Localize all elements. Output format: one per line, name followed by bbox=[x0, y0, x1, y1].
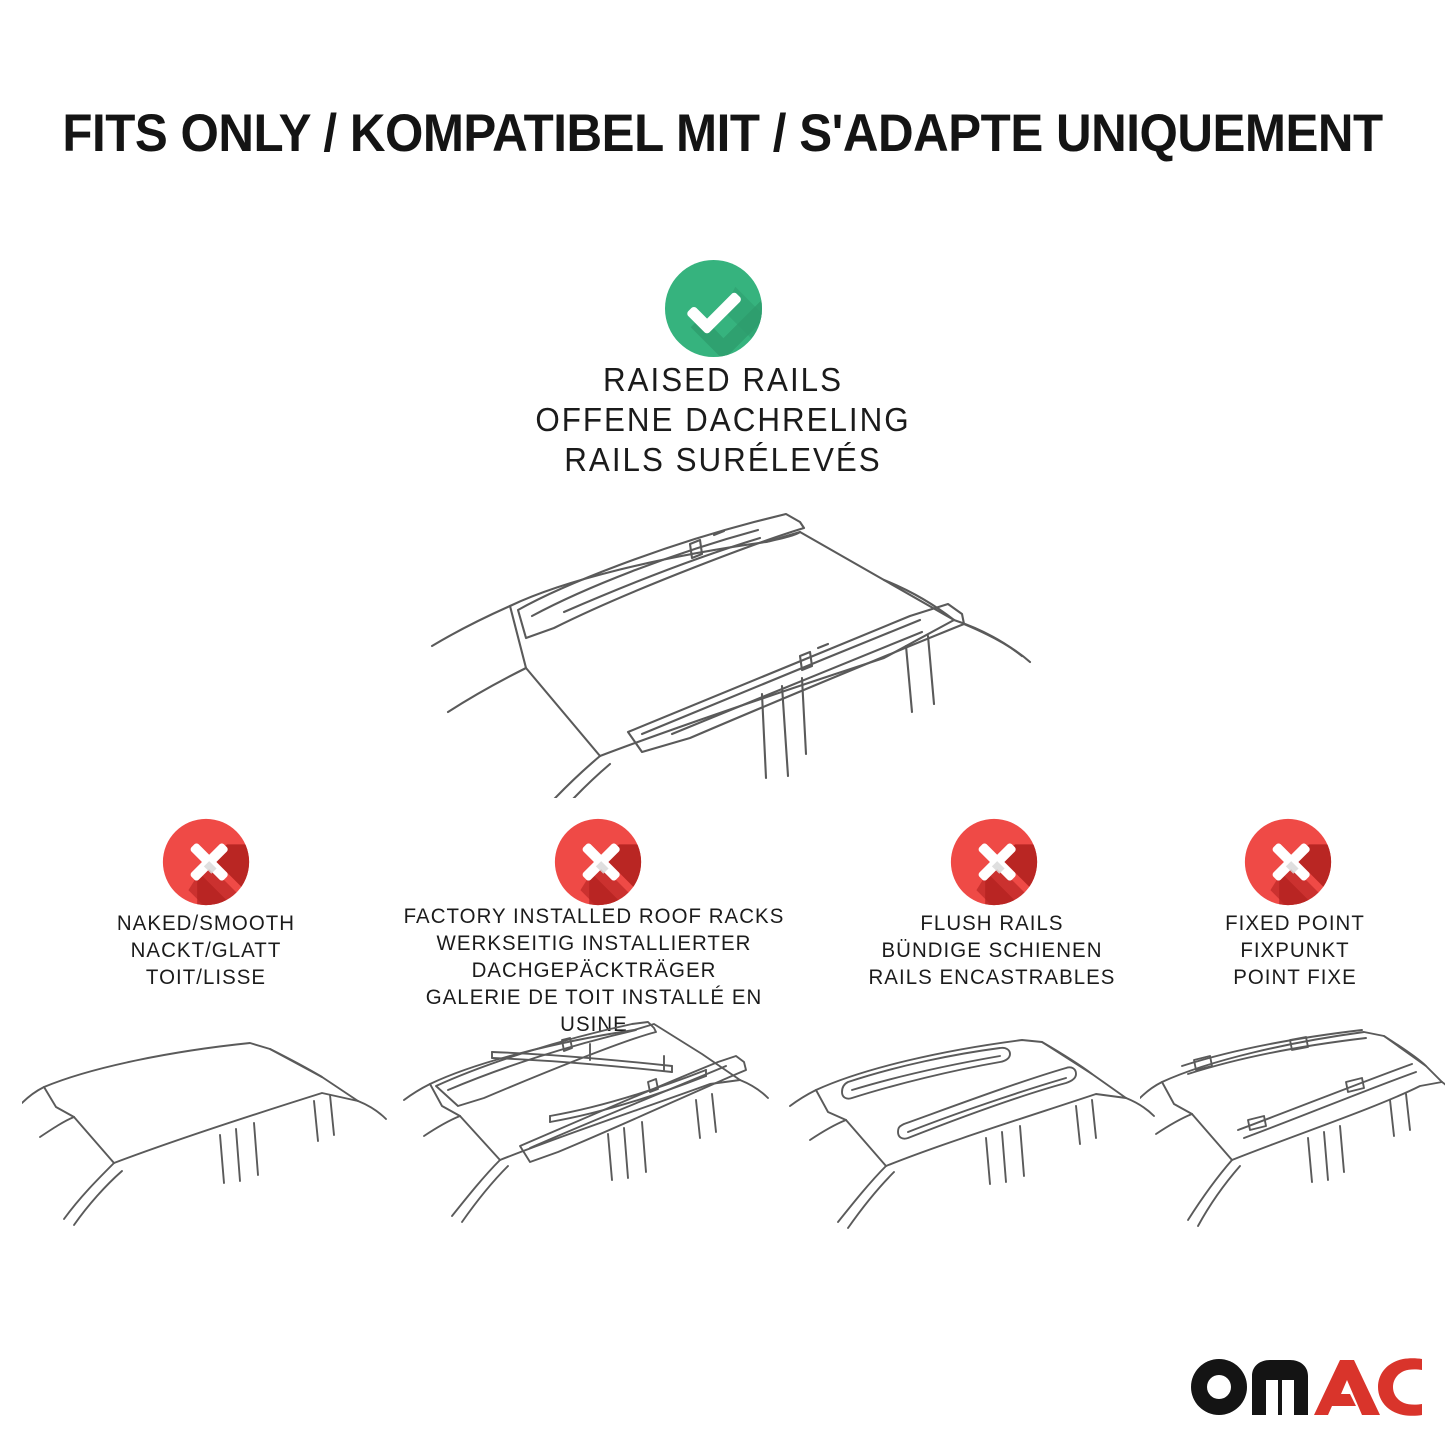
cross-circle-icon bbox=[1244, 818, 1332, 906]
option-label-line-1: FIXED POINT bbox=[1155, 910, 1434, 937]
option-label-line-2: NACKT/GLATT bbox=[26, 937, 387, 964]
option-label-line-3: POINT FIXE bbox=[1155, 964, 1434, 991]
compatible-label-line-2: OFFENE DACHRELING bbox=[391, 400, 1056, 440]
omac-logo bbox=[1190, 1358, 1422, 1416]
option-label-naked-smooth: NAKED/SMOOTH NACKT/GLATT TOIT/LISSE bbox=[26, 910, 387, 991]
logo-letter-m bbox=[1252, 1360, 1308, 1415]
option-label-line-2: FIXPUNKT bbox=[1155, 937, 1434, 964]
option-label-line-3: TOIT/LISSE bbox=[26, 964, 387, 991]
compatible-label: RAISED RAILS OFFENE DACHRELING RAILS SUR… bbox=[391, 360, 1056, 480]
car-roof-flush-rails-diagram bbox=[786, 1020, 1158, 1240]
option-label-line-1: FLUSH RAILS bbox=[817, 910, 1167, 937]
car-roof-fixed-point-diagram bbox=[1140, 1020, 1445, 1240]
logo-letter-o bbox=[1191, 1359, 1247, 1415]
option-label-line-2: BÜNDIGE SCHIENEN bbox=[817, 937, 1167, 964]
option-label-line-1: FACTORY INSTALLED ROOF RACKS bbox=[389, 903, 799, 930]
option-label-line-2: WERKSEITIG INSTALLIERTER bbox=[389, 930, 799, 957]
option-label-line-3: RAILS ENCASTRABLES bbox=[817, 964, 1167, 991]
cross-circle-icon bbox=[950, 818, 1038, 906]
cross-circle-icon bbox=[554, 818, 642, 906]
option-label-line-1: NAKED/SMOOTH bbox=[26, 910, 387, 937]
compatible-label-line-1: RAISED RAILS bbox=[391, 360, 1056, 400]
page-title: FITS ONLY / KOMPATIBEL MIT / S'ADAPTE UN… bbox=[51, 104, 1395, 164]
option-label-line-3: DACHGEPÄCKTRÄGER bbox=[389, 957, 799, 984]
check-circle-icon bbox=[664, 259, 763, 358]
option-label-fixed-point: FIXED POINT FIXPUNKT POINT FIXE bbox=[1155, 910, 1434, 991]
car-roof-factory-rack-diagram bbox=[396, 1010, 776, 1240]
compatible-label-line-3: RAILS SURÉLEVÉS bbox=[391, 440, 1056, 480]
car-roof-naked-smooth-diagram bbox=[22, 1025, 392, 1240]
option-label-flush-rails: FLUSH RAILS BÜNDIGE SCHIENEN RAILS ENCAS… bbox=[817, 910, 1167, 991]
logo-letter-c bbox=[1378, 1358, 1422, 1416]
car-roof-raised-rails-diagram bbox=[414, 488, 1054, 798]
cross-circle-icon bbox=[162, 818, 250, 906]
logo-letter-a bbox=[1314, 1360, 1380, 1415]
